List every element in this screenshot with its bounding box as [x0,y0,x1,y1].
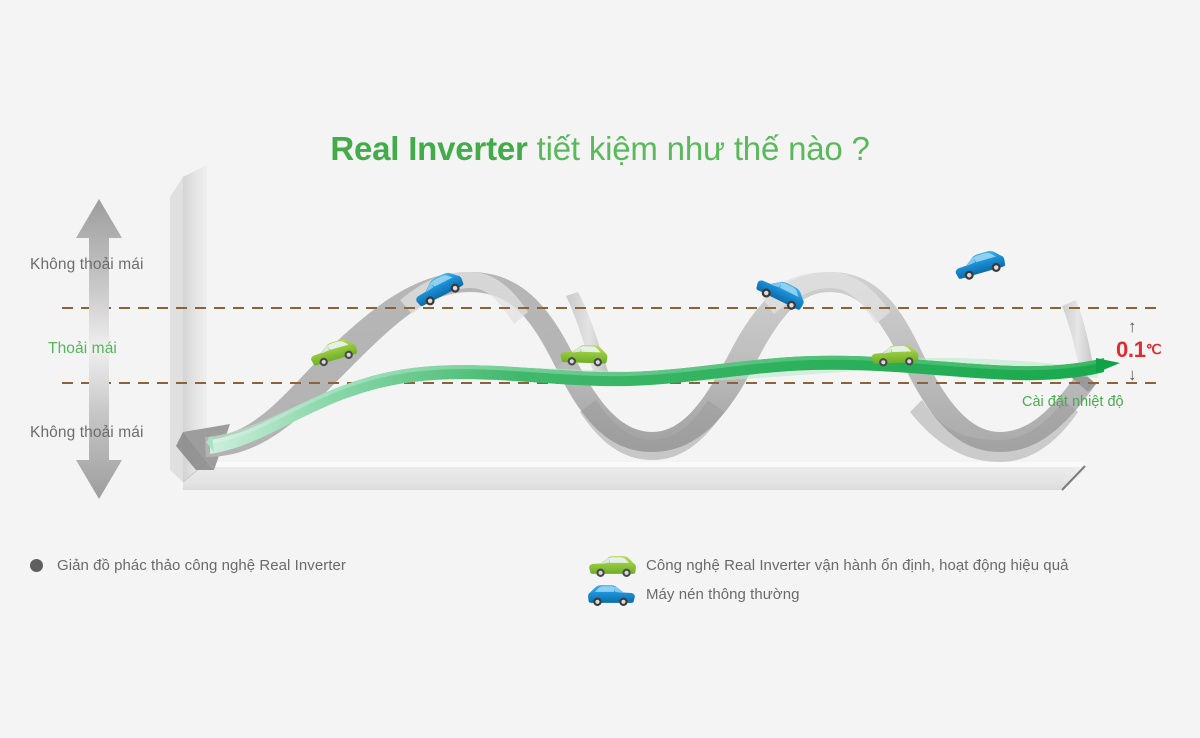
axis-label-comfortable: Thoải mái [48,340,117,358]
car-blue-3 [952,247,1007,282]
gray-dot-icon [30,559,43,572]
legend-label-real-inverter: Công nghệ Real Inverter vận hành ổn định… [646,557,1069,574]
temperature-delta-number: 0.1 [1116,337,1146,362]
legend-item-conventional: Máy nén thông thường [586,581,799,607]
diagram-canvas: Không thoải mái Thoải mái Không thoải má… [0,0,1200,738]
green-car-icon [586,552,638,578]
legend-item-diagram: Giản đồ phác thảo công nghệ Real Inverte… [30,557,346,574]
axis-label-uncomfortable-bottom: Không thoải mái [30,424,144,442]
setpoint-label: Cài đặt nhiệt độ [1022,394,1124,410]
temperature-delta-value: 0.1℃ [1116,337,1161,363]
blue-car-icon [586,581,638,607]
floor-slab [183,462,1085,490]
legend-label-conventional: Máy nén thông thường [646,586,799,603]
arrow-up-icon: ↑ [1128,318,1137,335]
legend-item-real-inverter: Công nghệ Real Inverter vận hành ổn định… [586,552,1069,578]
arrow-down-icon: ↓ [1128,366,1137,383]
temperature-delta-unit: ℃ [1146,341,1161,357]
legend-label-diagram: Giản đồ phác thảo công nghệ Real Inverte… [57,557,346,574]
axis-label-uncomfortable-top: Không thoải mái [30,256,144,274]
